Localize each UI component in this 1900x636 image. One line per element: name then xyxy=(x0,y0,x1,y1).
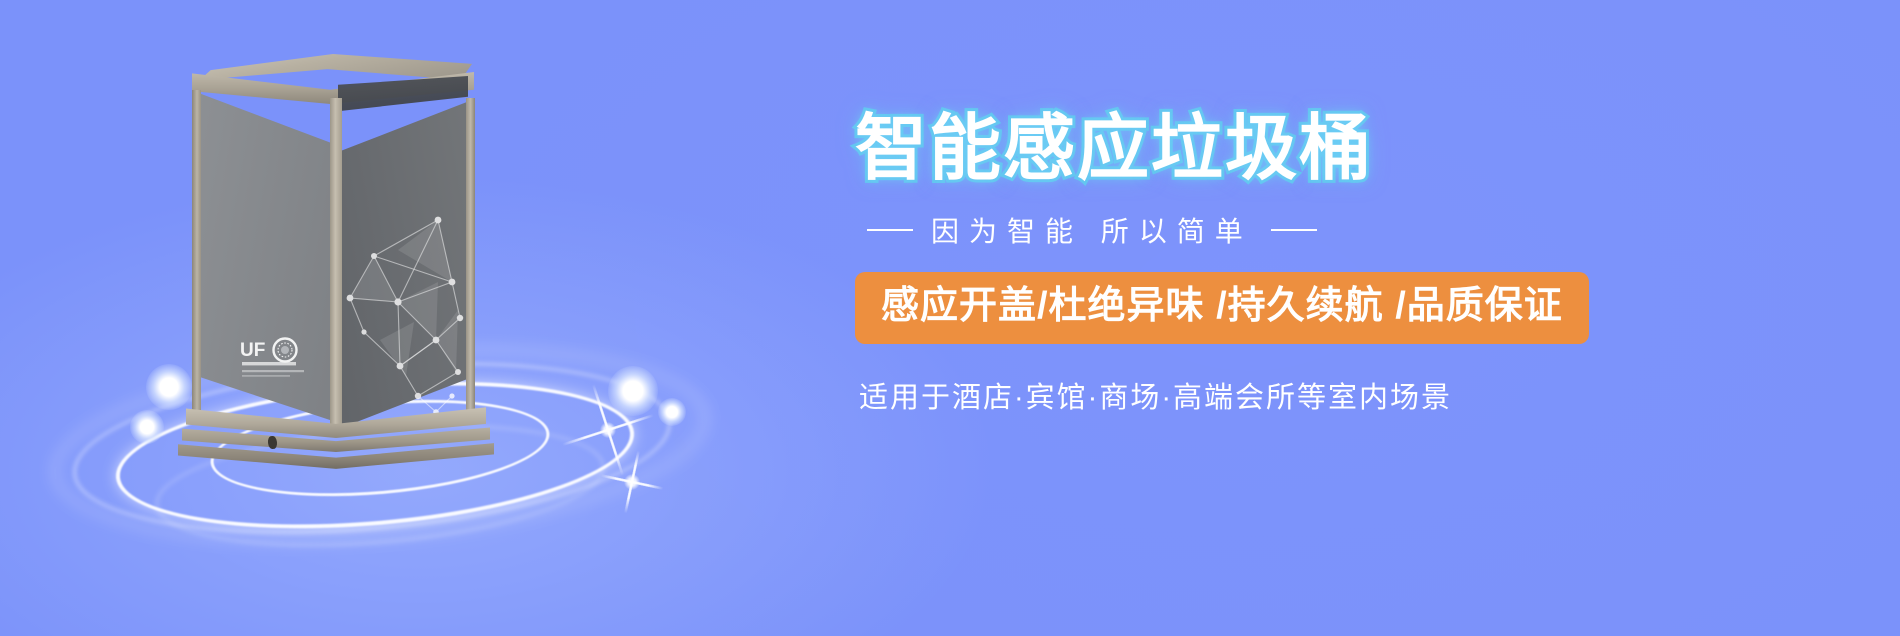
banner-headline: 智能感应垃圾桶 xyxy=(855,112,1855,188)
bin-edge-post-left xyxy=(192,90,201,420)
ufo-logo: UF xyxy=(238,336,312,382)
product-banner: UF 智能感应垃圾桶 因为智能 所以简单 感应开盖/杜绝异味 /持久续航 /品质… xyxy=(0,0,1900,636)
svg-text:UF: UF xyxy=(240,340,265,361)
sparkle-star-icon xyxy=(594,444,670,520)
rule-left-icon xyxy=(867,229,913,231)
feature-highlight-bar: 感应开盖/杜绝异味 /持久续航 /品质保证 xyxy=(855,272,1589,345)
banner-scene-line: 适用于酒店·宾馆·商场·高端会所等室内场景 xyxy=(859,374,1855,416)
banner-copy: 智能感应垃圾桶 因为智能 所以简单 感应开盖/杜绝异味 /持久续航 /品质保证 … xyxy=(855,112,1855,416)
banner-subline: 因为智能 所以简单 xyxy=(867,210,1855,250)
trash-bin-product-image: UF xyxy=(190,40,480,440)
bin-lid-top xyxy=(194,54,472,80)
product-stage: UF xyxy=(60,30,740,606)
banner-subline-text: 因为智能 所以简单 xyxy=(931,210,1253,250)
rule-right-icon xyxy=(1271,229,1317,231)
bin-edge-post-center xyxy=(330,98,342,434)
bin-face-right xyxy=(336,100,472,430)
glow-dot-icon xyxy=(658,398,686,426)
glow-dot-icon xyxy=(146,364,192,410)
bin-edge-post-right xyxy=(466,98,475,416)
glow-dot-icon xyxy=(130,410,164,444)
